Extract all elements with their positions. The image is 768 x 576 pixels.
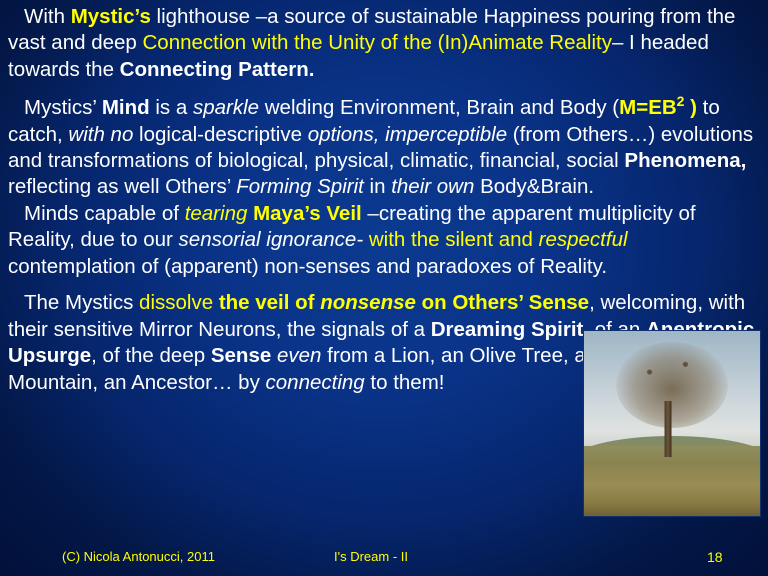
p1-connecting-pattern: Connecting Pattern. (120, 58, 315, 81)
p4-seg16: to them! (365, 371, 445, 394)
p4-on-others-sense: on Others’ Sense (416, 291, 589, 314)
p4-nonsense: nonsense (320, 291, 416, 314)
p2-sparkle: sparkle (193, 96, 259, 119)
tree-crown-icon (616, 342, 728, 428)
p1-connection-unity: Connection with the Unity of the (In)Ani… (143, 31, 612, 54)
p3-seg1: Minds capable of (24, 202, 185, 225)
footer-title: I's Dream - II (334, 549, 408, 564)
p4-dissolve: dissolve (139, 291, 219, 314)
p2-mind: Mind (102, 96, 150, 119)
p4-seg1: The Mystics (24, 291, 139, 314)
p2-options-imperceptible: options, imperceptible (308, 123, 507, 146)
p1-seg1: With (24, 5, 71, 28)
p2-formula: M=EB (619, 96, 677, 119)
lone-tree-photo (583, 330, 761, 517)
paragraph-1: With Mystic’s lighthouse –a source of su… (8, 4, 760, 83)
paragraph-3: Minds capable of tearing Maya’s Veil –cr… (8, 201, 760, 280)
p3-respectful: respectful (539, 228, 628, 251)
p2-their-own: their own (391, 175, 474, 198)
p2-seg15: in (364, 175, 391, 198)
p4-the-veil-of: the veil of (219, 291, 320, 314)
p2-seg13: reflecting as well Others’ (8, 175, 236, 198)
slide-canvas: With Mystic’s lighthouse –a source of su… (0, 0, 768, 576)
p4-dreaming-spirit: Dreaming Spirit (431, 318, 584, 341)
p2-with-no: with no (68, 123, 133, 146)
p3-seg6: with the silent and (363, 228, 539, 251)
p4-sense: Sense (211, 344, 271, 367)
p3-seg8: contemplation of (apparent) non-senses a… (8, 255, 607, 278)
p4-seg10: , of the deep (91, 344, 211, 367)
p2-seg1: Mystics’ (24, 96, 102, 119)
footer-page-number: 18 (707, 549, 723, 565)
p4-even: even (277, 344, 321, 367)
p2-formula-close: ) (684, 96, 697, 119)
p3-sensorial-ignorance: sensorial ignorance- (179, 228, 364, 251)
photo-ground (584, 446, 760, 516)
p2-phenomena: Phenomena, (624, 149, 746, 172)
p1-mystics: Mystic’s (71, 5, 151, 28)
p2-seg17: Body&Brain. (474, 175, 594, 198)
paragraph-2: Mystics’ Mind is a sparkle welding Envir… (8, 93, 760, 201)
p3-tearing: tearing (185, 202, 253, 225)
p2-seg3: is a (150, 96, 193, 119)
p2-seg5: welding Environment, Brain and Body ( (259, 96, 619, 119)
footer-copyright: (C) Nicola Antonucci, 2011 (62, 549, 215, 564)
tree-trunk (665, 401, 672, 457)
slide-footer: (C) Nicola Antonucci, 2011 I's Dream - I… (0, 542, 768, 576)
p3-mayas-veil: Maya’s Veil (253, 202, 362, 225)
p4-connecting: connecting (266, 371, 365, 394)
p2-forming-spirit: Forming Spirit (236, 175, 364, 198)
p2-seg9: logical-descriptive (133, 123, 307, 146)
